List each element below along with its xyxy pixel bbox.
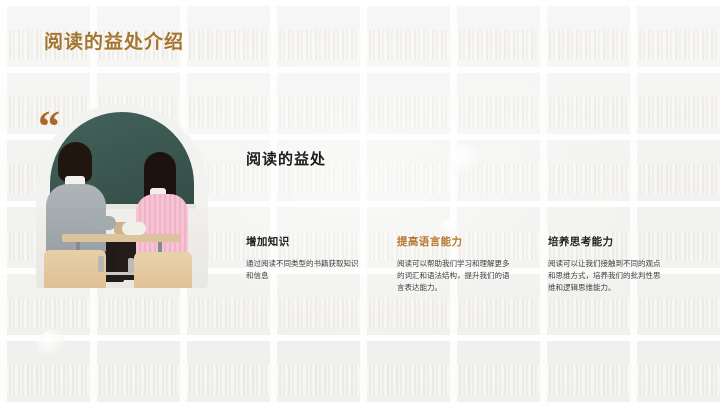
page-title: 阅读的益处介绍 [44,27,184,54]
benefit-title-1: 增加知识 [246,234,364,249]
benefit-body-2: 阅读可以帮助我们学习和理解更多的词汇和语法结构，提升我们的语言表达能力。 [397,258,515,294]
benefit-column-1: 增加知识 通过阅读不同类型的书籍获取知识和信息 [246,234,364,294]
chair-right-knob [128,258,134,273]
benefit-title-2: 提高语言能力 [397,234,515,249]
benefit-body-1: 通过阅读不同类型的书籍获取知识和信息 [246,258,364,282]
benefit-column-3: 培养思考能力 阅读可以让我们接触到不同的观点和思维方式，培养我们的批判性思维和逻… [548,234,666,294]
section-heading: 阅读的益处 [246,148,326,169]
benefit-column-2: 提高语言能力 阅读可以帮助我们学习和理解更多的词汇和语法结构，提升我们的语言表达… [397,234,515,294]
chair-right [134,252,192,288]
quotation-mark-icon: “ [38,112,61,142]
desk-top [62,234,180,242]
slide-canvas: 阅读的益处介绍 “ 阅读的益处 增加知识 通过阅读不同类型的书籍获取知识和信息 [0,0,720,404]
classroom-photo [36,104,208,288]
student-right-arm [122,222,146,235]
chair-left [44,250,106,288]
chair-left-knob [98,256,104,272]
benefit-body-3: 阅读可以让我们接触到不同的观点和思维方式，培养我们的批判性思维和逻辑思维能力。 [548,258,666,294]
benefit-title-3: 培养思考能力 [548,234,666,249]
student-left-arm [88,216,116,230]
benefits-columns: 增加知识 通过阅读不同类型的书籍获取知识和信息 提高语言能力 阅读可以帮助我们学… [246,234,666,294]
